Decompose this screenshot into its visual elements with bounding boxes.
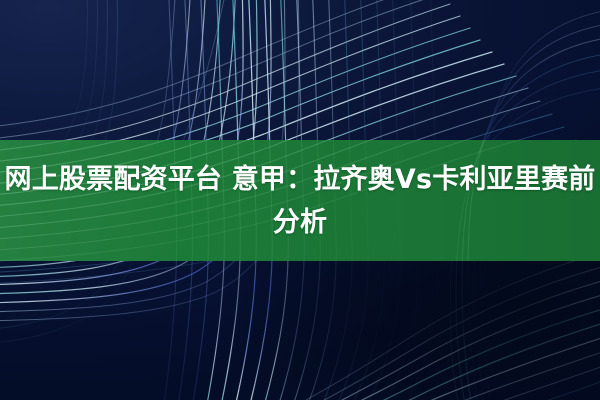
sports-news-banner: 网上股票配资平台 意甲：拉齐奥Vs卡利亚里赛前 分析: [0, 0, 600, 400]
headline-text: 网上股票配资平台 意甲：拉齐奥Vs卡利亚里赛前 分析: [0, 158, 600, 244]
